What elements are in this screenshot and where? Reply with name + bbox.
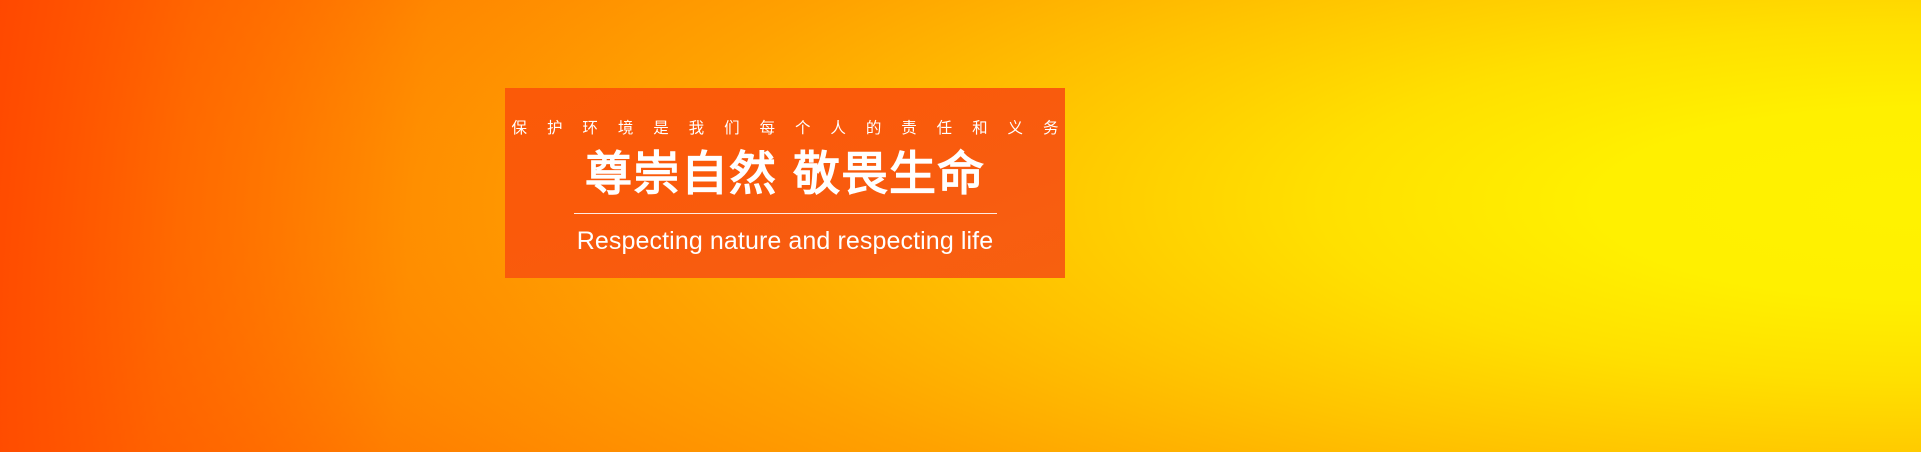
divider-rule bbox=[574, 213, 997, 214]
environmental-banner: 保 护 环 境 是 我 们 每 个 人 的 责 任 和 义 务 尊崇自然敬畏生命… bbox=[0, 0, 1921, 452]
subtitle-english: Respecting nature and respecting life bbox=[577, 228, 993, 256]
headline-part-two: 敬畏生命 bbox=[793, 147, 985, 202]
headline-part-one: 尊崇自然 bbox=[585, 147, 777, 202]
poster-panel: 保 护 环 境 是 我 们 每 个 人 的 责 任 和 义 务 尊崇自然敬畏生命… bbox=[505, 88, 1065, 278]
tagline-chinese: 保 护 环 境 是 我 们 每 个 人 的 责 任 和 义 务 bbox=[504, 121, 1066, 137]
headline-chinese: 尊崇自然敬畏生命 bbox=[585, 150, 985, 200]
